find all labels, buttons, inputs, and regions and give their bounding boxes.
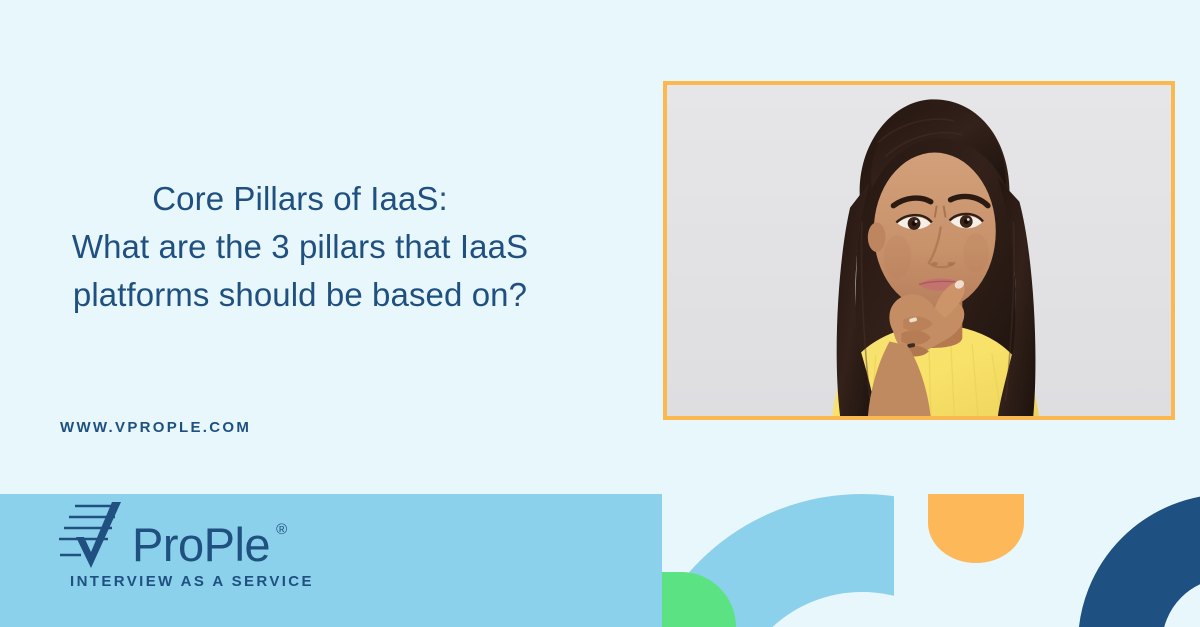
registered-trademark-icon: ® bbox=[276, 521, 287, 538]
decorative-navy-arc-shape bbox=[1044, 494, 1200, 627]
headline-line-3: platforms should be based on? bbox=[0, 271, 600, 319]
website-url: WWW.VPROPLE.COM bbox=[60, 419, 251, 436]
banner-canvas: Core Pillars of IaaS: What are the 3 pil… bbox=[0, 0, 1200, 627]
headline: Core Pillars of IaaS: What are the 3 pil… bbox=[0, 175, 600, 319]
logo-wordmark: ProPle bbox=[132, 521, 270, 568]
headline-line-2: What are the 3 pillars that IaaS bbox=[0, 223, 600, 271]
photo-frame bbox=[663, 81, 1175, 420]
headline-line-1: Core Pillars of IaaS: bbox=[0, 175, 600, 223]
brand-logo: ProPle ® INTERVIEW AS A SERVICE bbox=[58, 500, 314, 590]
logo-top-row: ProPle ® bbox=[58, 500, 287, 572]
vprople-checkmark-icon bbox=[58, 500, 136, 572]
photo-illustration bbox=[667, 85, 1171, 416]
logo-tagline: INTERVIEW AS A SERVICE bbox=[70, 573, 314, 590]
